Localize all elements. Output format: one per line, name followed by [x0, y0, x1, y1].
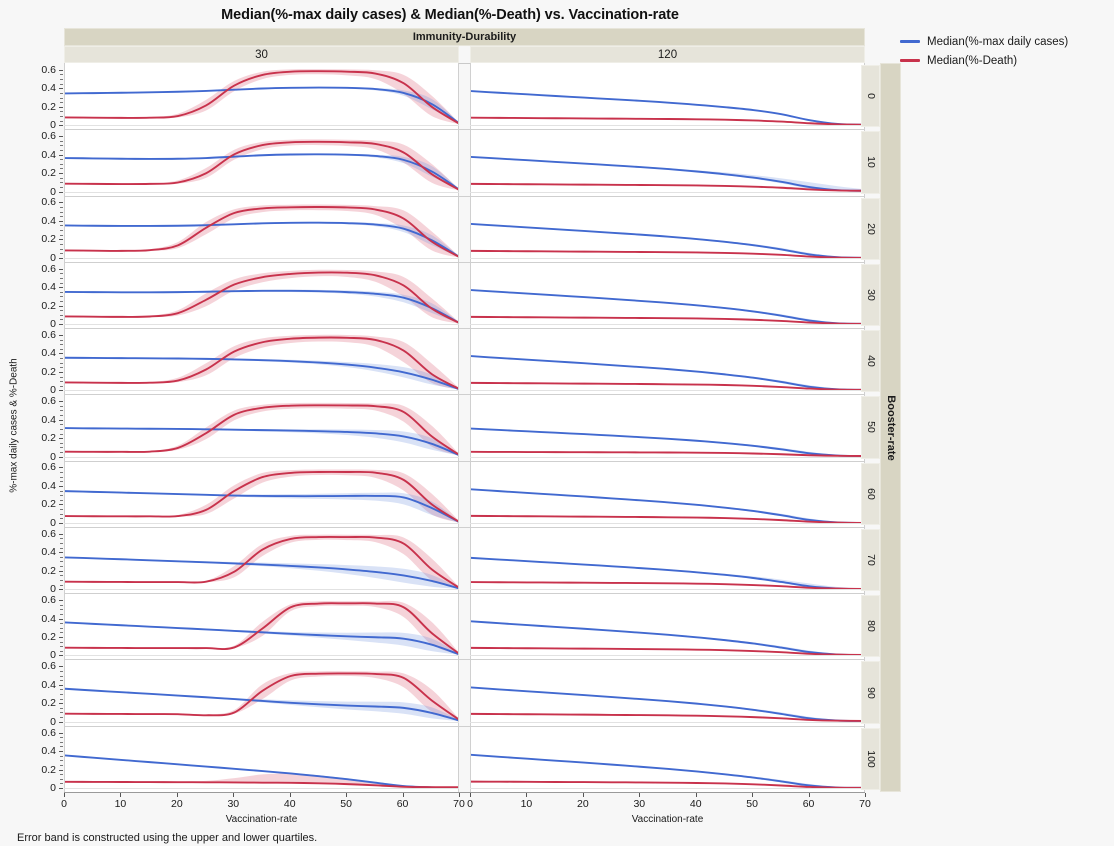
- y-tick-mark: [59, 269, 63, 270]
- x-tick-mark: [583, 793, 584, 797]
- y-tick-mark: [59, 685, 63, 686]
- line-median-cases: [65, 222, 459, 257]
- y-tick-mark-minor: [60, 74, 63, 75]
- y-tick-label: 0: [28, 452, 56, 462]
- x-tick-mark: [639, 793, 640, 797]
- facet-row-header-90: 90: [861, 661, 880, 723]
- panel-plot: [471, 659, 865, 725]
- facet-panel-booster-30-durability-120[interactable]: [470, 262, 865, 328]
- y-tick-mark-minor: [60, 472, 63, 473]
- y-tick-mark-minor: [60, 249, 63, 250]
- y-tick-mark: [59, 192, 63, 193]
- facet-panel-booster-100-durability-30[interactable]: [64, 726, 459, 792]
- y-tick-mark-minor: [60, 164, 63, 165]
- panel-plot: [65, 63, 459, 129]
- facet-column-header-120: 120: [470, 46, 865, 63]
- error-band-death: [65, 204, 459, 257]
- facet-panel-booster-10-durability-120[interactable]: [470, 129, 865, 195]
- panel-plot: [65, 527, 459, 593]
- facet-row-header-40: 40: [861, 330, 880, 392]
- y-tick-label: 0: [28, 385, 56, 395]
- facet-panel-booster-80-durability-30[interactable]: [64, 593, 459, 659]
- y-tick-label: 0.2: [28, 698, 56, 708]
- y-tick-mark-minor: [60, 344, 63, 345]
- legend-swatch-cases: [900, 40, 920, 43]
- y-tick-mark-minor: [60, 121, 63, 122]
- y-tick-label: 0.2: [28, 433, 56, 443]
- zero-gridline: [64, 390, 459, 391]
- panel-plot: [65, 726, 459, 792]
- facet-row-header-label: 30: [865, 289, 877, 301]
- error-band-cases: [65, 557, 459, 589]
- y-tick-mark-minor: [60, 273, 63, 274]
- y-tick-mark: [59, 637, 63, 638]
- facet-row-header-label: 70: [865, 554, 877, 566]
- zero-gridline: [470, 589, 865, 590]
- zero-gridline: [470, 125, 865, 126]
- y-tick-mark-minor: [60, 102, 63, 103]
- y-tick-mark: [59, 335, 63, 336]
- y-tick-mark-minor: [60, 481, 63, 482]
- y-tick-mark-minor: [60, 296, 63, 297]
- panel-row-separator: [64, 461, 865, 462]
- y-tick-label: 0.6: [28, 330, 56, 340]
- y-tick-mark-minor: [60, 605, 63, 606]
- y-tick-label: 0.2: [28, 168, 56, 178]
- y-tick-mark-minor: [60, 111, 63, 112]
- legend-item-cases[interactable]: Median(%-max daily cases): [900, 32, 1068, 51]
- y-tick-mark: [59, 571, 63, 572]
- y-tick-label: 0: [28, 187, 56, 197]
- facet-row-header-label: 100: [865, 750, 877, 768]
- y-tick-mark-minor: [60, 717, 63, 718]
- y-tick-label: 0.4: [28, 680, 56, 690]
- y-tick-label: 0: [28, 120, 56, 130]
- y-tick-mark-minor: [60, 628, 63, 629]
- y-tick-mark-minor: [60, 632, 63, 633]
- x-tick-label: 30: [626, 799, 652, 810]
- y-tick-mark-minor: [60, 548, 63, 549]
- panel-plot: [471, 593, 865, 659]
- facet-row-header-70: 70: [861, 529, 880, 591]
- facet-row-header-20: 20: [861, 198, 880, 260]
- y-tick-mark-minor: [60, 609, 63, 610]
- facet-panel-booster-50-durability-120[interactable]: [470, 394, 865, 460]
- y-tick-mark-minor: [60, 207, 63, 208]
- x-tick-label: 30: [220, 799, 246, 810]
- y-tick-mark-minor: [60, 477, 63, 478]
- facet-row-header-label: 90: [865, 687, 877, 699]
- y-tick-label: 0.2: [28, 367, 56, 377]
- y-tick-mark-minor: [60, 676, 63, 677]
- y-tick-mark-minor: [60, 278, 63, 279]
- y-tick-mark: [59, 136, 63, 137]
- zero-gridline: [470, 457, 865, 458]
- facet-row-header-60: 60: [861, 463, 880, 525]
- panel-plot: [471, 527, 865, 593]
- panel-plot: [471, 63, 865, 129]
- x-tick-mark: [459, 793, 460, 797]
- y-tick-mark: [59, 589, 63, 590]
- y-tick-label: 0.6: [28, 462, 56, 472]
- panel-plot: [65, 328, 459, 394]
- panel-plot: [471, 129, 865, 195]
- facet-panel-booster-0-durability-30[interactable]: [64, 63, 459, 129]
- zero-gridline: [64, 589, 459, 590]
- y-tick-label: 0: [28, 584, 56, 594]
- y-tick-mark-minor: [60, 566, 63, 567]
- y-tick-mark: [59, 202, 63, 203]
- y-tick-label: 0.2: [28, 102, 56, 112]
- y-tick-label: 0.4: [28, 481, 56, 491]
- x-tick-mark: [290, 793, 291, 797]
- legend-label-death: Median(%-Death): [927, 55, 1017, 67]
- y-tick-mark: [59, 770, 63, 771]
- facet-panel-booster-60-durability-30[interactable]: [64, 461, 459, 527]
- y-tick-mark-minor: [60, 509, 63, 510]
- x-tick-label: 60: [390, 799, 416, 810]
- error-band-death: [65, 140, 459, 191]
- y-tick-label: 0.2: [28, 765, 56, 775]
- x-tick-label: 20: [570, 799, 596, 810]
- y-tick-mark: [59, 486, 63, 487]
- facet-row-header-100: 100: [861, 728, 880, 790]
- y-tick-mark-minor: [60, 187, 63, 188]
- y-tick-label: 0.6: [28, 264, 56, 274]
- y-tick-mark: [59, 239, 63, 240]
- error-band-cases: [65, 357, 459, 390]
- x-tick-mark: [120, 793, 121, 797]
- x-tick-mark: [346, 793, 347, 797]
- y-tick-label: 0.4: [28, 746, 56, 756]
- y-tick-label: 0.4: [28, 348, 56, 358]
- y-tick-mark: [59, 258, 63, 259]
- y-tick-mark-minor: [60, 283, 63, 284]
- y-tick-mark: [59, 372, 63, 373]
- x-tick-label: 10: [107, 799, 133, 810]
- facet-panel-booster-20-durability-30[interactable]: [64, 196, 459, 262]
- y-tick-mark: [59, 221, 63, 222]
- panel-plot: [65, 196, 459, 262]
- y-tick-mark-minor: [60, 235, 63, 236]
- zero-gridline: [64, 722, 459, 723]
- facet-panel-booster-80-durability-120[interactable]: [470, 593, 865, 659]
- facet-row-header-label: 80: [865, 620, 877, 632]
- y-tick-mark: [59, 401, 63, 402]
- y-tick-mark-minor: [60, 737, 63, 738]
- y-tick-mark: [59, 155, 63, 156]
- y-tick-mark-minor: [60, 244, 63, 245]
- panel-plot: [65, 262, 459, 328]
- y-tick-label: 0: [28, 783, 56, 793]
- y-tick-label: 0.6: [28, 529, 56, 539]
- y-tick-mark-minor: [60, 765, 63, 766]
- panel-plot: [471, 196, 865, 262]
- y-tick-mark: [59, 88, 63, 89]
- y-tick-mark-minor: [60, 358, 63, 359]
- y-tick-mark-minor: [60, 225, 63, 226]
- y-tick-mark: [59, 619, 63, 620]
- y-tick-mark-minor: [60, 212, 63, 213]
- y-tick-mark-minor: [60, 760, 63, 761]
- facet-row-header-label: 20: [865, 223, 877, 235]
- y-tick-label: 0.4: [28, 614, 56, 624]
- panel-row-separator: [64, 129, 865, 130]
- panel-plot: [65, 461, 459, 527]
- panel-plot: [65, 659, 459, 725]
- panel-plot: [65, 129, 459, 195]
- facet-row-header-label: 0: [865, 93, 877, 99]
- y-tick-mark-minor: [60, 340, 63, 341]
- y-tick-mark-minor: [60, 315, 63, 316]
- y-tick-label: 0.4: [28, 415, 56, 425]
- zero-gridline: [64, 192, 459, 193]
- y-tick-mark-minor: [60, 349, 63, 350]
- zero-gridline: [64, 125, 459, 126]
- facet-row-header-0: 0: [861, 65, 880, 127]
- y-tick-label: 0: [28, 319, 56, 329]
- page-title: Median(%-max daily cases) & Median(%-Dea…: [0, 7, 900, 23]
- y-tick-mark-minor: [60, 116, 63, 117]
- y-tick-mark-minor: [60, 377, 63, 378]
- y-tick-mark-minor: [60, 84, 63, 85]
- legend: Median(%-max daily cases) Median(%-Death…: [900, 32, 1068, 70]
- y-tick-mark: [59, 722, 63, 723]
- y-tick-mark-minor: [60, 230, 63, 231]
- y-tick-mark: [59, 655, 63, 656]
- facet-row-group-label: Booster-rate: [885, 395, 897, 460]
- y-tick-mark: [59, 306, 63, 307]
- y-tick-mark: [59, 751, 63, 752]
- panel-plot: [471, 394, 865, 460]
- y-tick-mark-minor: [60, 301, 63, 302]
- y-tick-mark-minor: [60, 452, 63, 453]
- y-tick-mark-minor: [60, 145, 63, 146]
- facet-panel-booster-30-durability-30[interactable]: [64, 262, 459, 328]
- y-tick-mark-minor: [60, 557, 63, 558]
- facet-panel-booster-10-durability-30[interactable]: [64, 129, 459, 195]
- y-tick-label: 0.6: [28, 131, 56, 141]
- facet-panel-booster-90-durability-30[interactable]: [64, 659, 459, 725]
- y-tick-mark: [59, 552, 63, 553]
- x-tick-label: 40: [277, 799, 303, 810]
- plot-bottom-border: [64, 792, 865, 793]
- panel-plot: [471, 461, 865, 527]
- facet-row-header-label: 40: [865, 355, 877, 367]
- y-tick-label: 0.2: [28, 499, 56, 509]
- panel-row-separator: [64, 262, 865, 263]
- zero-gridline: [470, 258, 865, 259]
- panel-row-separator: [64, 196, 865, 197]
- y-tick-mark-minor: [60, 756, 63, 757]
- y-tick-mark-minor: [60, 98, 63, 99]
- y-tick-mark-minor: [60, 575, 63, 576]
- y-tick-mark-minor: [60, 712, 63, 713]
- y-tick-mark: [59, 125, 63, 126]
- y-tick-label: 0.2: [28, 566, 56, 576]
- facet-row-header-10: 10: [861, 131, 880, 193]
- legend-label-cases: Median(%-max daily cases): [927, 36, 1068, 48]
- zero-gridline: [64, 457, 459, 458]
- facet-row-header-50: 50: [861, 396, 880, 458]
- panel-plot: [471, 328, 865, 394]
- zero-gridline: [470, 390, 865, 391]
- x-tick-mark: [752, 793, 753, 797]
- facet-panel-booster-70-durability-120[interactable]: [470, 527, 865, 593]
- error-band-death: [65, 69, 459, 124]
- y-tick-mark: [59, 324, 63, 325]
- panel-row-separator: [64, 593, 865, 594]
- zero-gridline: [470, 324, 865, 325]
- y-tick-mark-minor: [60, 779, 63, 780]
- y-tick-mark: [59, 438, 63, 439]
- y-tick-label: 0.6: [28, 396, 56, 406]
- zero-gridline: [470, 722, 865, 723]
- y-tick-label: 0.4: [28, 83, 56, 93]
- legend-item-death[interactable]: Median(%-Death): [900, 51, 1068, 70]
- y-tick-mark: [59, 353, 63, 354]
- facet-row-group-header: Booster-rate: [880, 63, 901, 792]
- y-tick-mark-minor: [60, 694, 63, 695]
- line-median-cases: [65, 491, 459, 522]
- y-tick-mark: [59, 287, 63, 288]
- x-tick-mark: [64, 793, 65, 797]
- facet-panel-booster-40-durability-120[interactable]: [470, 328, 865, 394]
- panel-plot: [471, 726, 865, 792]
- y-tick-label: 0.4: [28, 282, 56, 292]
- facet-panel-booster-20-durability-120[interactable]: [470, 196, 865, 262]
- zero-gridline: [470, 192, 865, 193]
- y-tick-mark-minor: [60, 434, 63, 435]
- y-tick-mark-minor: [60, 363, 63, 364]
- y-tick-mark-minor: [60, 424, 63, 425]
- y-tick-mark: [59, 107, 63, 108]
- facet-column-group-header: Immunity-Durability: [64, 28, 865, 46]
- y-tick-mark-minor: [60, 182, 63, 183]
- facet-panel-booster-0-durability-120[interactable]: [470, 63, 865, 129]
- x-axis-title: Vaccination-rate: [182, 814, 342, 825]
- y-tick-mark: [59, 600, 63, 601]
- facet-panel-booster-90-durability-120[interactable]: [470, 659, 865, 725]
- x-tick-mark: [809, 793, 810, 797]
- facet-row-header-80: 80: [861, 595, 880, 657]
- y-tick-mark-minor: [60, 491, 63, 492]
- zero-gridline: [470, 788, 865, 789]
- y-tick-mark-minor: [60, 623, 63, 624]
- y-tick-mark: [59, 703, 63, 704]
- y-tick-mark-minor: [60, 216, 63, 217]
- x-tick-label: 0: [457, 799, 483, 810]
- y-tick-mark-minor: [60, 319, 63, 320]
- panel-row-separator: [64, 726, 865, 727]
- facet-panel-booster-40-durability-30[interactable]: [64, 328, 459, 394]
- y-tick-mark-minor: [60, 742, 63, 743]
- panel-row-separator: [64, 527, 865, 528]
- y-tick-label: 0.4: [28, 216, 56, 226]
- facet-row-header-30: 30: [861, 264, 880, 326]
- x-tick-label: 20: [164, 799, 190, 810]
- y-tick-label: 0.2: [28, 632, 56, 642]
- y-tick-label: 0.6: [28, 197, 56, 207]
- y-tick-mark-minor: [60, 543, 63, 544]
- y-tick-mark: [59, 523, 63, 524]
- y-tick-mark: [59, 504, 63, 505]
- x-tick-label: 10: [513, 799, 539, 810]
- y-tick-mark-minor: [60, 642, 63, 643]
- y-tick-mark-minor: [60, 381, 63, 382]
- x-tick-label: 50: [333, 799, 359, 810]
- zero-gridline: [64, 258, 459, 259]
- y-tick-mark: [59, 420, 63, 421]
- x-tick-label: 40: [683, 799, 709, 810]
- panel-row-separator: [64, 659, 865, 660]
- line-median-death: [65, 782, 459, 787]
- y-tick-label: 0.6: [28, 661, 56, 671]
- y-tick-mark-minor: [60, 518, 63, 519]
- y-tick-mark: [59, 666, 63, 667]
- y-tick-label: 0: [28, 518, 56, 528]
- x-tick-mark: [233, 793, 234, 797]
- y-tick-mark-minor: [60, 651, 63, 652]
- y-tick-mark-minor: [60, 746, 63, 747]
- x-tick-mark: [177, 793, 178, 797]
- facet-panel-booster-70-durability-30[interactable]: [64, 527, 459, 593]
- y-tick-mark-minor: [60, 585, 63, 586]
- panel-plot: [471, 262, 865, 328]
- y-tick-label: 0.2: [28, 234, 56, 244]
- y-tick-mark-minor: [60, 159, 63, 160]
- facet-panel-booster-100-durability-120[interactable]: [470, 726, 865, 792]
- y-tick-mark-minor: [60, 410, 63, 411]
- y-tick-mark-minor: [60, 680, 63, 681]
- y-tick-label: 0: [28, 717, 56, 727]
- y-tick-label: 0: [28, 650, 56, 660]
- y-tick-label: 0: [28, 253, 56, 263]
- y-tick-label: 0.4: [28, 150, 56, 160]
- zero-gridline: [64, 655, 459, 656]
- zero-gridline: [64, 523, 459, 524]
- facet-row-header-label: 10: [865, 157, 877, 169]
- y-tick-mark-minor: [60, 699, 63, 700]
- y-tick-mark-minor: [60, 79, 63, 80]
- zero-gridline: [470, 655, 865, 656]
- x-tick-label: 0: [51, 799, 77, 810]
- x-tick-label: 50: [739, 799, 765, 810]
- chart-container: Median(%-max daily cases) & Median(%-Dea…: [0, 0, 1114, 846]
- y-tick-mark-minor: [60, 415, 63, 416]
- y-tick-mark-minor: [60, 708, 63, 709]
- y-tick-label: 0.4: [28, 547, 56, 557]
- y-tick-mark: [59, 733, 63, 734]
- y-tick-mark-minor: [60, 386, 63, 387]
- error-band-cases: [65, 289, 459, 323]
- y-tick-label: 0.6: [28, 595, 56, 605]
- y-tick-mark: [59, 788, 63, 789]
- y-tick-mark-minor: [60, 253, 63, 254]
- y-tick-mark-minor: [60, 292, 63, 293]
- y-tick-label: 0.6: [28, 65, 56, 75]
- y-tick-mark-minor: [60, 495, 63, 496]
- facet-panel-booster-50-durability-30[interactable]: [64, 394, 459, 460]
- x-tick-label: 60: [796, 799, 822, 810]
- panel-plot: [65, 593, 459, 659]
- y-tick-mark: [59, 390, 63, 391]
- x-tick-label: 70: [852, 799, 878, 810]
- y-tick-label: 0.2: [28, 301, 56, 311]
- facet-panel-booster-60-durability-120[interactable]: [470, 461, 865, 527]
- y-tick-mark-minor: [60, 178, 63, 179]
- y-tick-mark-minor: [60, 783, 63, 784]
